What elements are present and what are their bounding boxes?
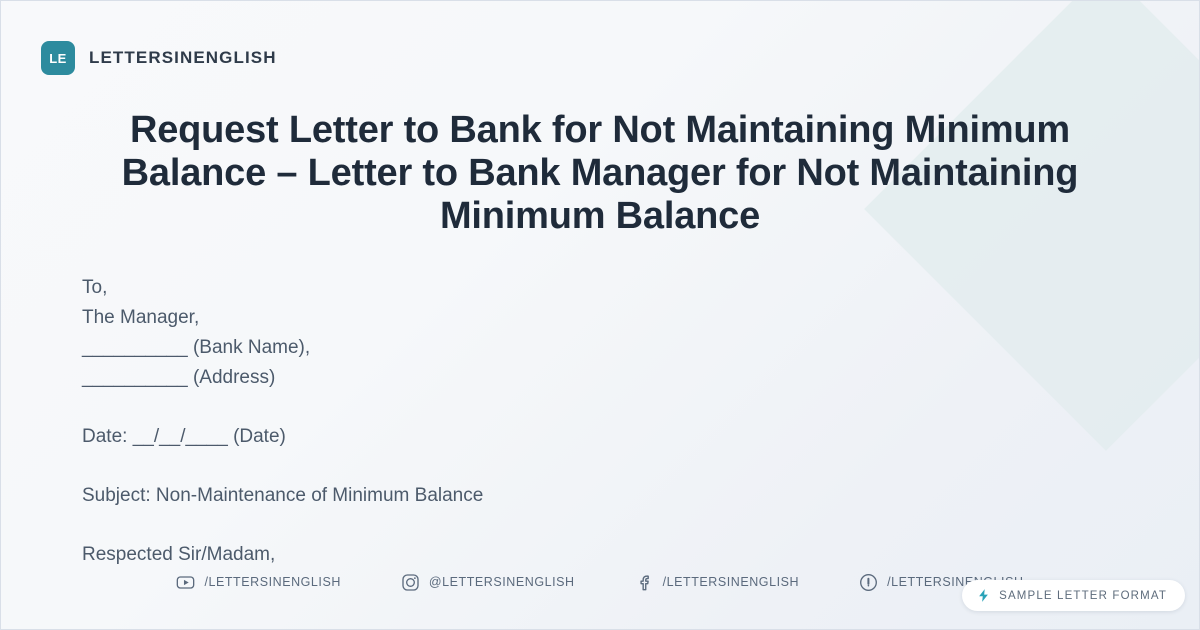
address-block: To, The Manager, __________ (Bank Name),… <box>82 273 1079 393</box>
social-link-facebook[interactable]: /LETTERSINENGLISH <box>635 573 799 592</box>
social-link-instagram[interactable]: @LETTERSINENGLISH <box>401 573 575 592</box>
social-link-youtube[interactable]: /LETTERSINENGLISH <box>176 573 340 592</box>
salutation-line: Respected Sir/Madam, <box>82 540 1079 570</box>
date-block: Date: __/__/____ (Date) <box>82 422 1079 452</box>
status-badge[interactable]: SAMPLE LETTER FORMAT <box>962 580 1185 611</box>
lightning-bolt-icon <box>976 588 991 603</box>
social-handle-facebook: /LETTERSINENGLISH <box>663 575 799 589</box>
address-line: The Manager, <box>82 303 1079 333</box>
youtube-icon <box>176 573 195 592</box>
letter-body: To, The Manager, __________ (Bank Name),… <box>82 273 1079 570</box>
pinterest-icon <box>859 573 878 592</box>
social-handle-instagram: @LETTERSINENGLISH <box>429 575 575 589</box>
address-line: __________ (Bank Name), <box>82 333 1079 363</box>
brand-header[interactable]: LE LETTERSINENGLISH <box>41 41 277 75</box>
facebook-icon <box>635 573 654 592</box>
subject-line: Subject: Non-Maintenance of Minimum Bala… <box>82 481 1079 511</box>
subject-block: Subject: Non-Maintenance of Minimum Bala… <box>82 481 1079 511</box>
social-handle-youtube: /LETTERSINENGLISH <box>204 575 340 589</box>
badge-label: SAMPLE LETTER FORMAT <box>999 590 1167 602</box>
address-line: To, <box>82 273 1079 303</box>
social-share-card: LE LETTERSINENGLISH Request Letter to Ba… <box>0 0 1200 630</box>
brand-name-label: LETTERSINENGLISH <box>89 48 277 68</box>
instagram-icon <box>401 573 420 592</box>
page-title: Request Letter to Bank for Not Maintaini… <box>101 109 1099 238</box>
salutation-block: Respected Sir/Madam, <box>82 540 1079 570</box>
date-line: Date: __/__/____ (Date) <box>82 422 1079 452</box>
address-line: __________ (Address) <box>82 363 1079 393</box>
brand-logo-mark: LE <box>41 41 75 75</box>
